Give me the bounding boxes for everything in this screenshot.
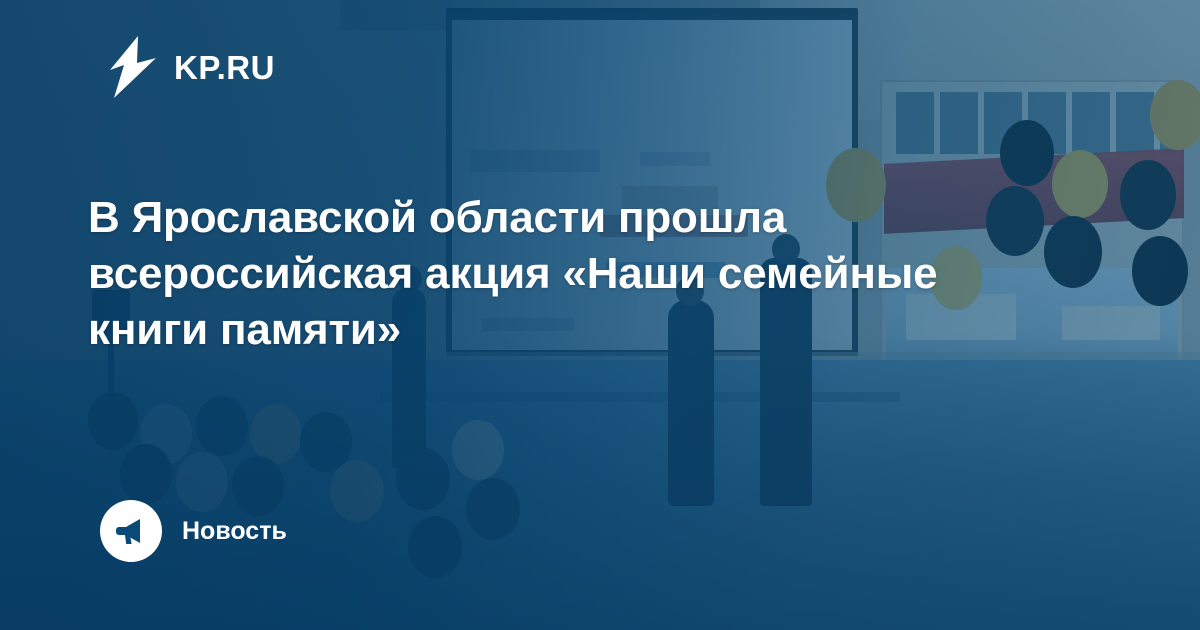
- bottom-vignette: [0, 330, 1200, 630]
- kp-bird-icon: [104, 36, 160, 98]
- brand-logo[interactable]: KP.RU: [104, 36, 275, 98]
- status-badge[interactable]: Новость: [100, 500, 287, 562]
- news-share-card: KP.RU В Ярославской области прошла всеро…: [0, 0, 1200, 630]
- badge-label: Новость: [182, 517, 287, 546]
- megaphone-icon: [114, 516, 148, 546]
- badge-icon-circle: [100, 500, 162, 562]
- page-title: В Ярославской области прошла всероссийск…: [88, 190, 1048, 358]
- brand-name: KP.RU: [174, 51, 275, 84]
